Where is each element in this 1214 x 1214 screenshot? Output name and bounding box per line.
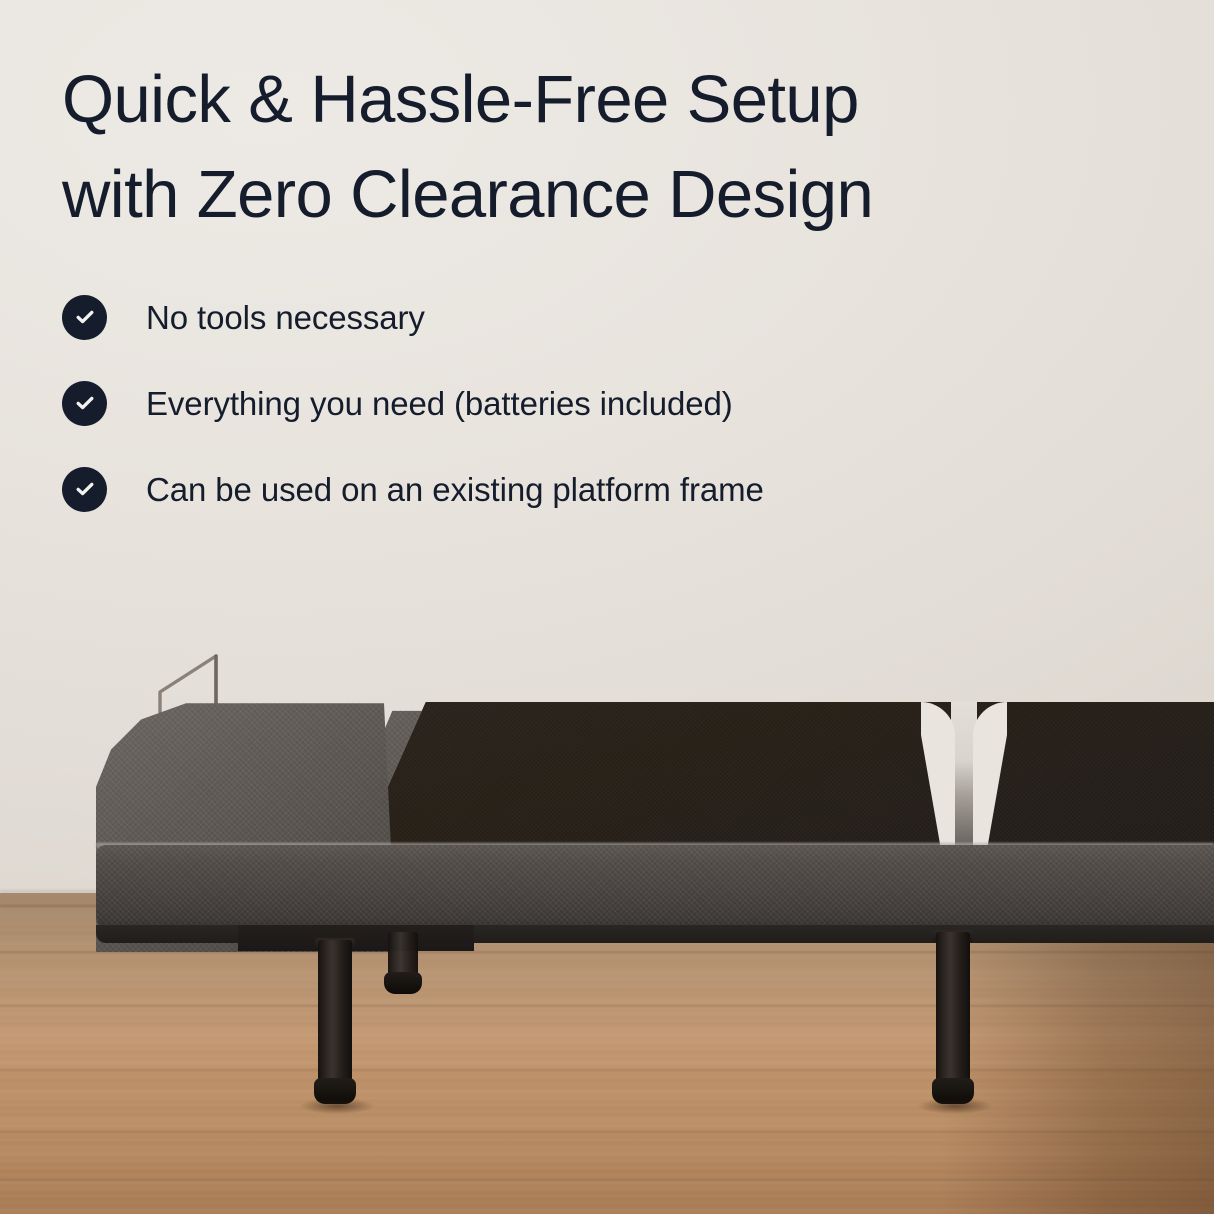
support-leg-back-left — [388, 932, 418, 976]
feature-item-2: Everything you need (batteries included) — [62, 374, 1122, 432]
feature-item-label: Everything you need (batteries included) — [146, 387, 733, 420]
feature-item-1: No tools necessary — [62, 288, 1122, 346]
upholstered-side-panel — [96, 845, 1214, 930]
check-circle-icon — [62, 381, 107, 426]
support-leg-center — [936, 932, 970, 1082]
adjustable-bed-base — [0, 640, 1214, 1160]
fabric-weave-texture — [96, 845, 1214, 930]
marketing-image: Quick & Hassle-Free Setup with Zero Clea… — [0, 0, 1214, 1214]
check-circle-icon — [62, 467, 107, 512]
feature-item-label: Can be used on an existing platform fram… — [146, 473, 764, 506]
floor-plank-seam — [0, 1179, 1214, 1181]
feature-item-3: Can be used on an existing platform fram… — [62, 460, 1122, 518]
feature-list: No tools necessary Everything you need (… — [62, 288, 1122, 546]
leg-foot-pad — [932, 1078, 974, 1104]
leg-foot-pad — [384, 972, 422, 994]
feature-item-label: No tools necessary — [146, 301, 425, 334]
page-title: Quick & Hassle-Free Setup with Zero Clea… — [62, 52, 1122, 242]
support-leg-front-left — [318, 940, 352, 1082]
check-circle-icon — [62, 295, 107, 340]
leg-foot-pad — [314, 1078, 356, 1104]
frame-notch — [238, 925, 474, 951]
